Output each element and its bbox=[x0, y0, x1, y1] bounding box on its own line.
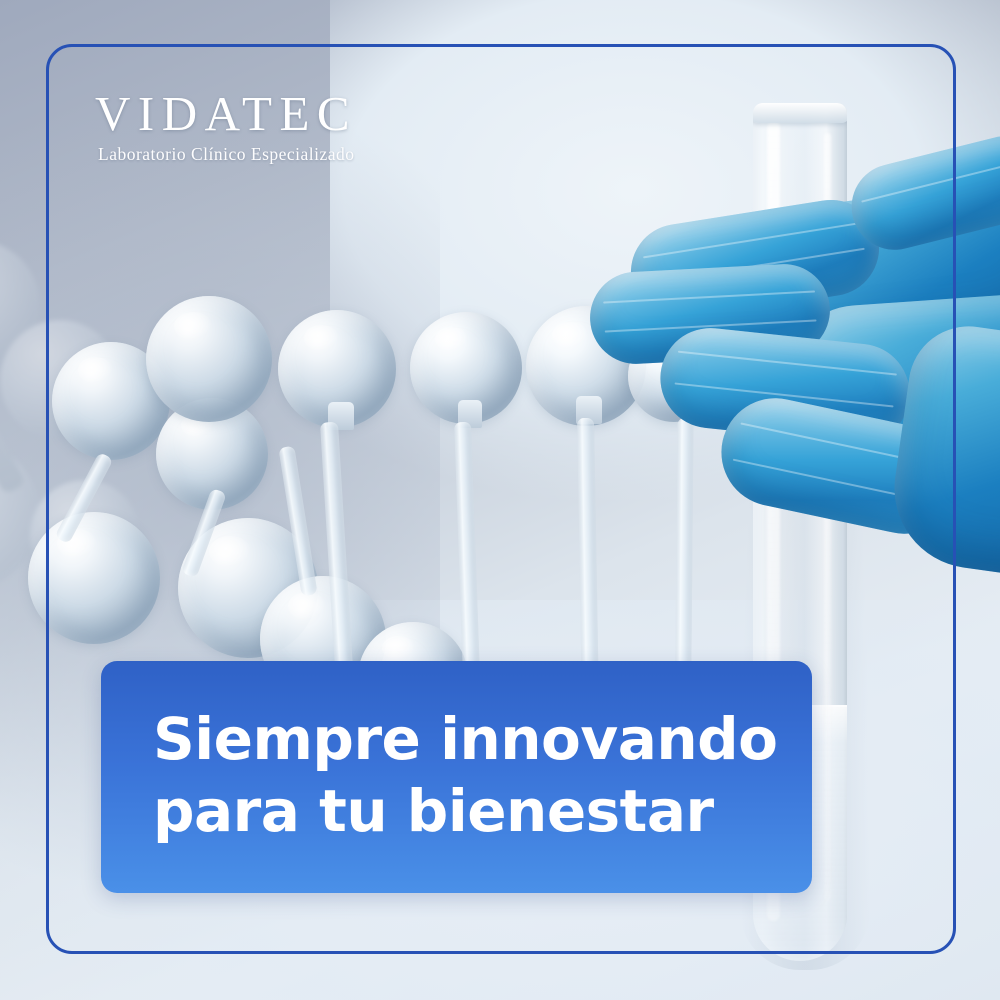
headline-banner: Siempre innovando para tu bienestar bbox=[101, 661, 812, 893]
brand-name: VIDATEC bbox=[95, 88, 357, 140]
brand-logo: VIDATEC Laboratorio Clínico Especializad… bbox=[95, 88, 357, 165]
test-tube-highlight-secondary bbox=[824, 133, 831, 901]
headline-line-2: para tu bienestar bbox=[153, 775, 714, 847]
test-tube-rim bbox=[753, 103, 847, 123]
ghost-dna-watermark bbox=[0, 230, 270, 650]
background-wash-top-right bbox=[330, 0, 1000, 500]
headline-line-1: Siempre innovando bbox=[153, 703, 778, 775]
poster-canvas: VIDATEC Laboratorio Clínico Especializad… bbox=[0, 0, 1000, 1000]
brand-tagline: Laboratorio Clínico Especializado bbox=[98, 143, 357, 165]
